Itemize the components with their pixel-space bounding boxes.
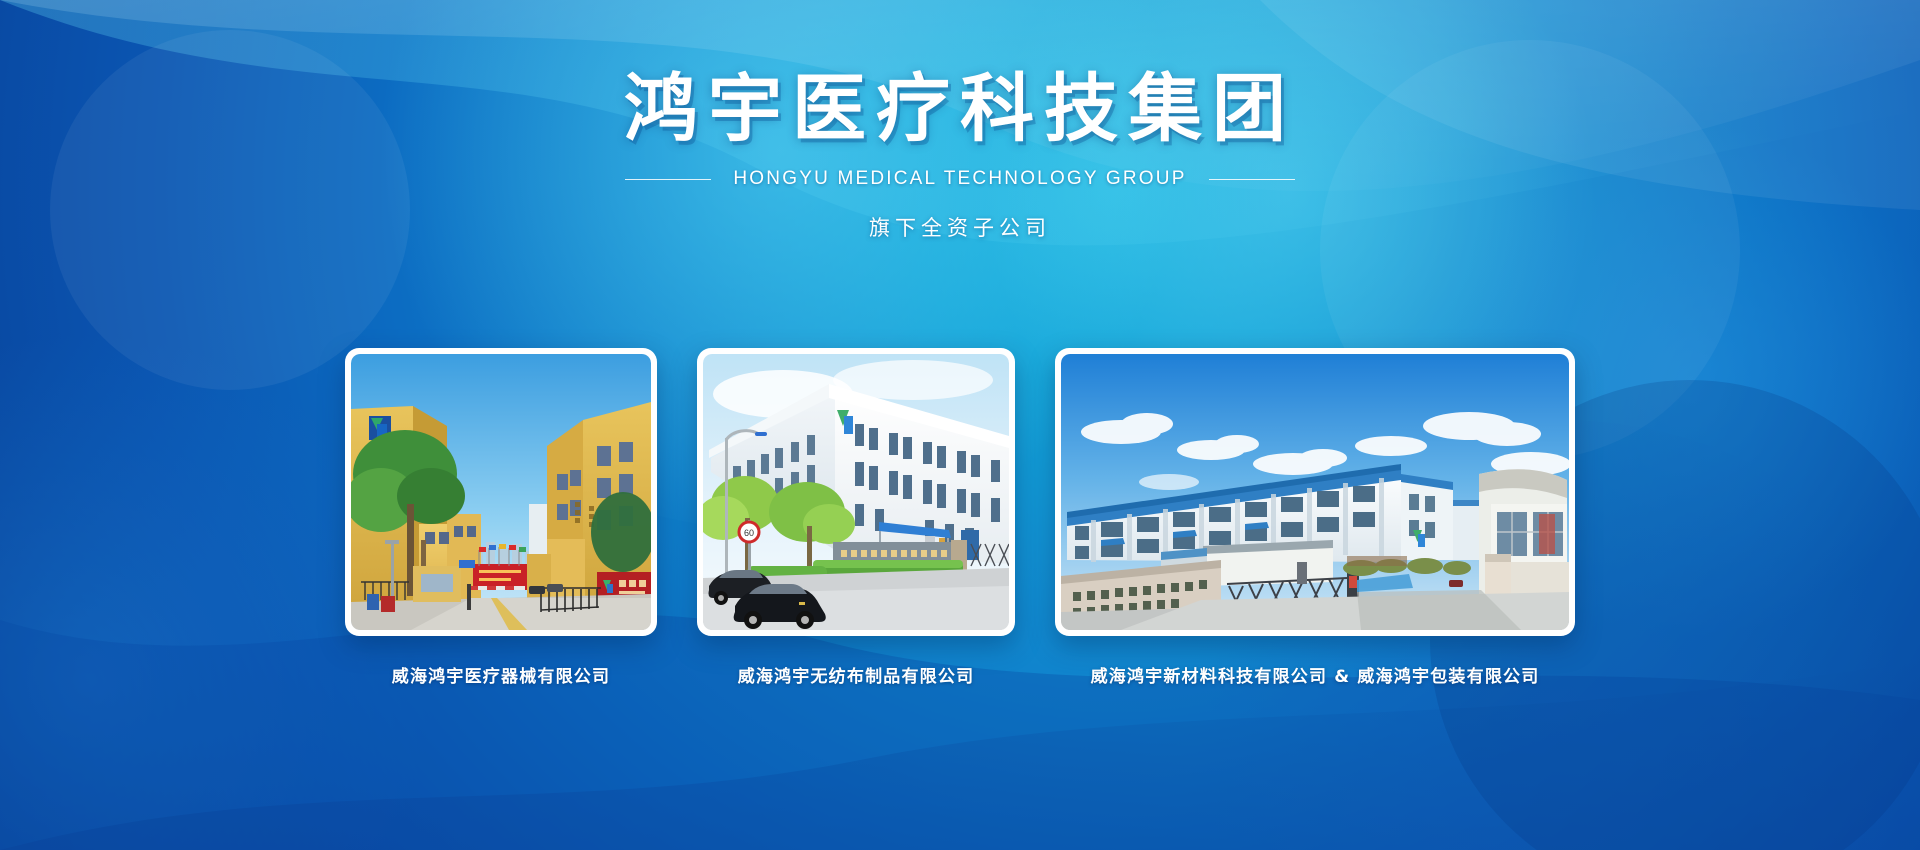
photo-new-materials-plant <box>1061 354 1569 630</box>
card-caption-3: 威海鸿宇新材料科技有限公司 & 威海鸿宇包装有限公司 <box>1091 662 1540 687</box>
subtitle-row: HONGYU MEDICAL TECHNOLOGY GROUP <box>0 168 1920 190</box>
subsidiary-card-1[interactable]: 威海鸿宇医疗器械有限公司 <box>345 348 657 687</box>
rule-right <box>1209 179 1295 180</box>
photo-frame-1 <box>345 348 657 636</box>
rule-left <box>625 179 711 180</box>
subsidiary-card-list: 威海鸿宇医疗器械有限公司 <box>0 348 1920 687</box>
photo-frame-2: 60 <box>697 348 1015 636</box>
svg-text:60: 60 <box>744 528 754 538</box>
subtitle-english: HONGYU MEDICAL TECHNOLOGY GROUP <box>733 168 1186 190</box>
page-title: 鸿宇医疗科技集团 <box>0 72 1920 146</box>
banner-hero: 鸿宇医疗科技集团 HONGYU MEDICAL TECHNOLOGY GROUP… <box>0 0 1920 850</box>
card-caption-2: 威海鸿宇无纺布制品有限公司 <box>738 662 975 687</box>
subsidiary-card-2[interactable]: 60 <box>697 348 1015 687</box>
card-caption-1: 威海鸿宇医疗器械有限公司 <box>392 662 610 687</box>
photo-medical-device-campus <box>351 354 651 630</box>
subtitle-chinese: 旗下全资子公司 <box>0 212 1920 242</box>
photo-frame-3 <box>1055 348 1575 636</box>
hero-header: 鸿宇医疗科技集团 HONGYU MEDICAL TECHNOLOGY GROUP… <box>0 0 1920 242</box>
photo-nonwoven-plant: 60 <box>703 354 1009 630</box>
subsidiary-card-3[interactable]: 威海鸿宇新材料科技有限公司 & 威海鸿宇包装有限公司 <box>1055 348 1575 687</box>
